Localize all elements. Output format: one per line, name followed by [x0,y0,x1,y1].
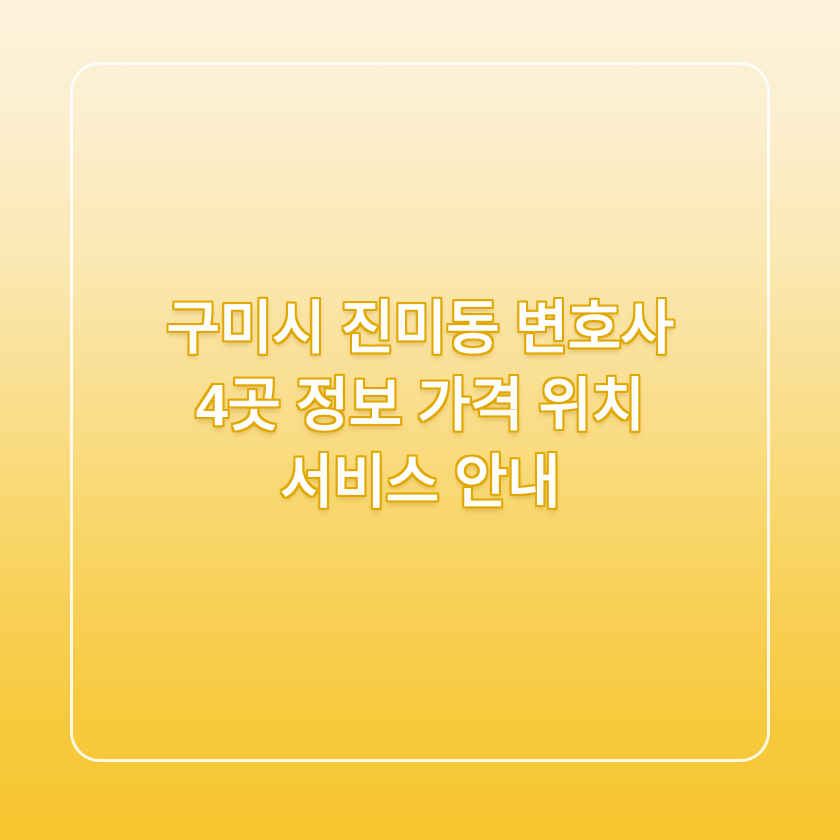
page-title: 구미시 진미동 변호사 4곳 정보 가격 위치 서비스 안내 [70,290,770,521]
poster-canvas: 구미시 진미동 변호사 4곳 정보 가격 위치 서비스 안내 [0,0,840,840]
